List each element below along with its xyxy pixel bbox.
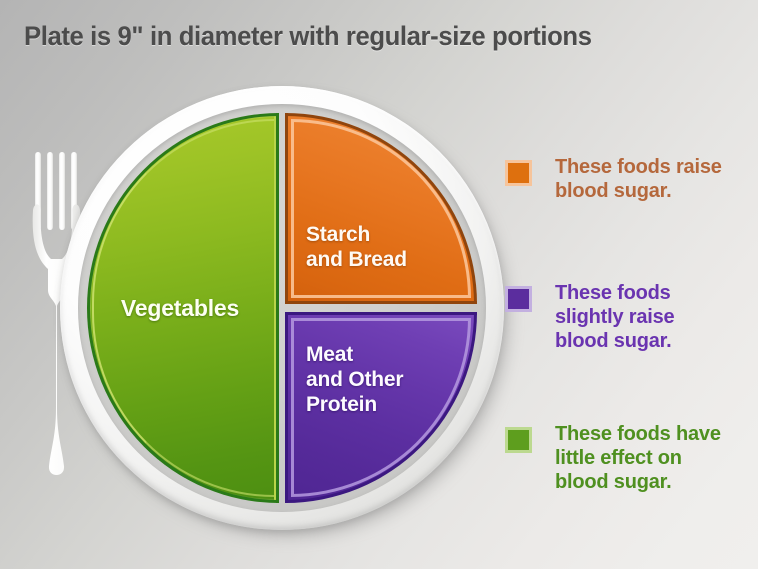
legend-item-slightly-raise: These foods slightly raise blood sugar. (505, 281, 674, 353)
plate-food-sections: Vegetables Starch and Bread Meat and Oth… (87, 113, 477, 503)
vegetables-label: Vegetables (90, 295, 270, 322)
legend-text-raise: These foods raise blood sugar. (555, 155, 722, 203)
legend-little-line-1: These foods have (555, 422, 721, 446)
legend-little-line-3: blood sugar. (555, 470, 721, 494)
legend-slightly-line-1: These foods (555, 281, 674, 305)
meat-label-line-3: Protein (306, 392, 403, 417)
page-title: Plate is 9" in diameter with regular-siz… (24, 21, 592, 52)
legend-text-little-effect: These foods have little effect on blood … (555, 422, 721, 494)
legend-slightly-line-3: blood sugar. (555, 329, 674, 353)
starch-label-line-1: Starch (306, 222, 407, 247)
starch-label-line-2: and Bread (306, 247, 407, 272)
starch-and-bread-label: Starch and Bread (306, 222, 407, 272)
meat-label-line-2: and Other (306, 367, 403, 392)
legend-item-raise: These foods raise blood sugar. (505, 155, 722, 203)
plate-section-starch-and-bread[interactable]: Starch and Bread (285, 113, 477, 304)
legend-raise-line-1: These foods raise (555, 155, 722, 179)
diabetes-plate-method-infographic: Plate is 9" in diameter with regular-siz… (0, 0, 758, 569)
legend-little-line-2: little effect on (555, 446, 721, 470)
plate-section-meat-and-other-protein[interactable]: Meat and Other Protein (285, 312, 477, 503)
legend-text-slightly-raise: These foods slightly raise blood sugar. (555, 281, 674, 353)
plate-graphic: Vegetables Starch and Bread Meat and Oth… (54, 80, 510, 540)
legend-swatch-orange (505, 160, 532, 186)
meat-and-other-protein-label: Meat and Other Protein (306, 342, 403, 417)
plate-section-vegetables[interactable]: Vegetables (87, 113, 279, 503)
legend-swatch-green (505, 427, 532, 453)
legend-swatch-purple (505, 286, 532, 312)
meat-label-line-1: Meat (306, 342, 403, 367)
legend-slightly-line-2: slightly raise (555, 305, 674, 329)
legend-raise-line-2: blood sugar. (555, 179, 722, 203)
legend-item-little-effect: These foods have little effect on blood … (505, 422, 721, 494)
